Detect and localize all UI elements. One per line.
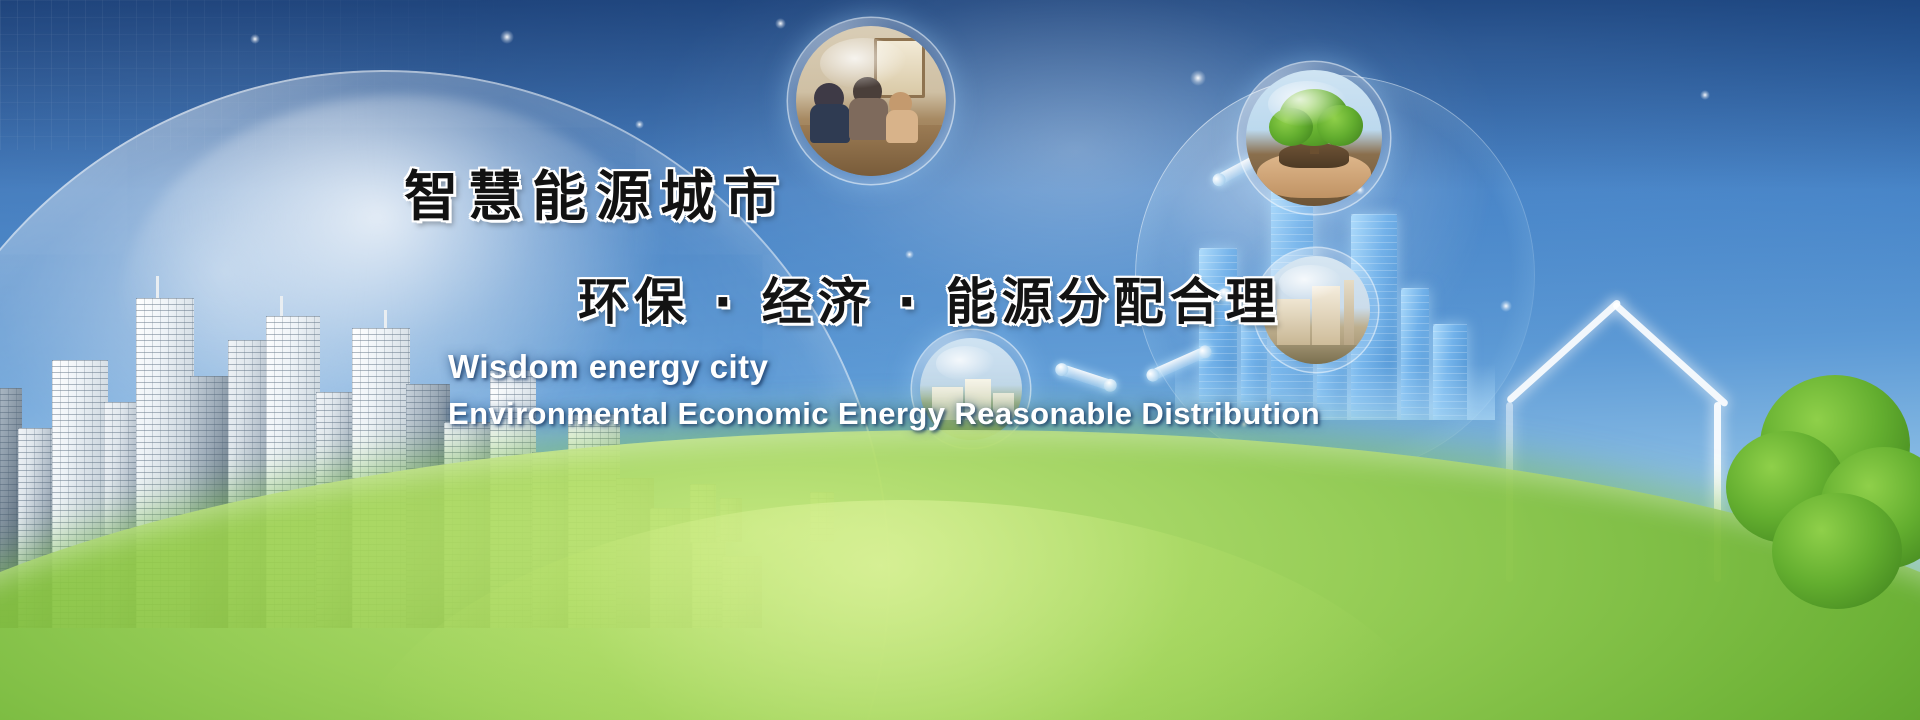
subheadline-english: Environmental Economic Energy Reasonable… [448,396,1320,432]
headline-english: Wisdom energy city [448,348,768,386]
headline-chinese: 智慧能源城市 [404,152,788,231]
energy-city-banner: 智慧能源城市 环保 · 经济 · 能源分配合理 Wisdom energy ci… [0,0,1920,720]
subheadline-chinese: 环保 · 经济 · 能源分配合理 [578,262,1282,334]
banner-text-block: 智慧能源城市 环保 · 经济 · 能源分配合理 Wisdom energy ci… [0,0,1920,720]
